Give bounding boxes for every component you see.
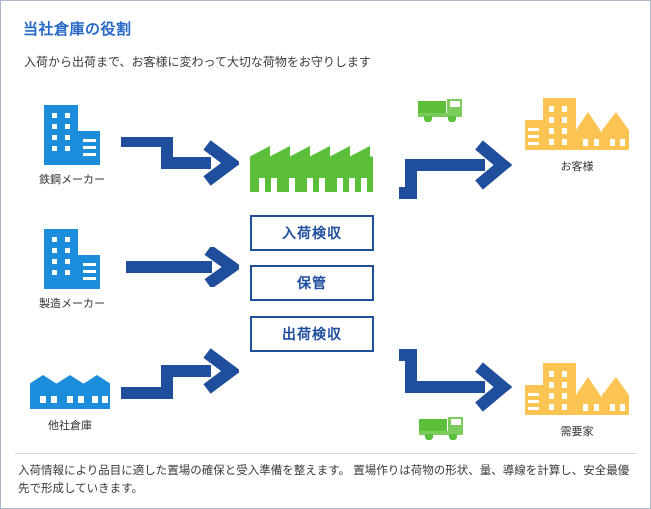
building-window	[65, 270, 70, 275]
building-bar	[83, 270, 96, 273]
building-window	[52, 259, 57, 264]
factory-window	[337, 178, 343, 192]
city-window	[562, 371, 567, 377]
city-bar	[528, 400, 539, 403]
factory-window	[259, 178, 265, 192]
cityscape-icon	[525, 98, 629, 150]
warehouse-window	[40, 396, 46, 403]
transport-node-bottom	[419, 417, 465, 441]
page-title: 当社倉庫の役割	[23, 18, 132, 39]
destination-label-bottom: 需要家	[497, 423, 651, 439]
city-window	[549, 106, 554, 112]
factory-window	[319, 178, 325, 192]
straight-arrow-right	[124, 247, 239, 287]
building-window	[52, 248, 57, 253]
process-box-shipping[interactable]: 出荷検収	[250, 316, 374, 352]
central-warehouse-node	[250, 144, 373, 192]
city-tower	[543, 98, 576, 150]
process-box-storage[interactable]: 保管	[250, 265, 374, 301]
city-window	[549, 371, 554, 377]
building-window	[52, 146, 57, 151]
building-tower	[44, 105, 78, 165]
factory-window	[307, 178, 313, 192]
city-house-window	[620, 404, 625, 411]
source-node-1: 鉄鋼メーカー	[44, 105, 100, 165]
building-bar	[83, 153, 96, 156]
city-house-window	[610, 139, 615, 146]
city-tower	[543, 363, 576, 415]
transport-node-top	[418, 99, 464, 123]
building-window	[65, 248, 70, 253]
city-window	[562, 117, 567, 123]
city-window	[549, 128, 554, 134]
factory-window	[271, 178, 277, 192]
city-window	[549, 382, 554, 388]
office-building-icon	[44, 229, 100, 289]
truck-cargo	[419, 419, 447, 431]
building-window	[52, 113, 57, 118]
city-window	[562, 404, 567, 410]
source-label-2: 製造メーカー	[0, 295, 152, 311]
truck-wheel	[449, 434, 457, 440]
building-tower	[44, 229, 78, 289]
city-bar	[528, 135, 539, 138]
city-house-window	[594, 139, 599, 146]
city-house-window	[620, 139, 625, 146]
destination-node-bottom: 需要家	[525, 363, 629, 415]
warehouse-window	[51, 396, 57, 403]
building-bar	[83, 146, 96, 149]
city-house-window	[594, 404, 599, 411]
city-bar	[528, 393, 539, 396]
building-window	[65, 259, 70, 264]
truck-wheel	[424, 116, 432, 122]
building-window	[65, 113, 70, 118]
city-window	[549, 117, 554, 123]
warehouse-window	[67, 396, 73, 403]
building-window	[65, 146, 70, 151]
destination-node-top: お客様	[525, 98, 629, 150]
city-window	[549, 139, 554, 145]
truck-cargo	[418, 101, 446, 113]
factory-icon	[250, 144, 373, 192]
step-down-arrow-right	[119, 137, 239, 189]
building-bar	[83, 263, 96, 266]
building-window	[52, 237, 57, 242]
footer-text: 入荷情報により品目に適した置場の確保と受入準備を整えます。 置場作りは荷物の形状…	[18, 462, 633, 498]
truck-window	[451, 419, 461, 425]
city-house-window	[583, 139, 588, 146]
source-label-3: 他社倉庫	[0, 417, 150, 433]
step-up-arrow-right	[393, 133, 513, 199]
source-node-2: 製造メーカー	[44, 229, 100, 289]
city-window	[562, 393, 567, 399]
city-house-window	[583, 404, 588, 411]
city-bar	[528, 142, 539, 145]
factory-window	[361, 178, 367, 192]
city-house-window	[610, 404, 615, 411]
step-up-arrow-right	[119, 347, 239, 399]
city-window	[549, 393, 554, 399]
truck-window	[450, 101, 460, 107]
building-bar	[83, 139, 96, 142]
cityscape-icon	[525, 363, 629, 415]
city-window	[562, 139, 567, 145]
city-window	[562, 106, 567, 112]
factory-window	[289, 178, 295, 192]
warehouse-window	[92, 396, 98, 403]
page-subtitle: 入荷から出荷まで、お客様に変わって大切な荷物をお守りします	[24, 53, 371, 70]
city-bar	[528, 128, 539, 131]
building-window	[52, 270, 57, 275]
truck-wheel	[448, 116, 456, 122]
factory-window	[349, 178, 355, 192]
building-window	[52, 124, 57, 129]
building-window	[65, 135, 70, 140]
warehouse-window	[78, 396, 84, 403]
source-node-3: 他社倉庫	[30, 375, 110, 409]
truck-icon	[418, 99, 464, 123]
building-window	[65, 124, 70, 129]
building-bar	[83, 277, 96, 280]
city-window	[562, 128, 567, 134]
footer-divider	[15, 453, 637, 454]
building-window	[52, 135, 57, 140]
warehouse-icon	[30, 375, 110, 409]
building-window	[65, 237, 70, 242]
warehouse-roof	[30, 375, 110, 389]
city-bar	[528, 407, 539, 410]
truck-wheel	[425, 434, 433, 440]
process-box-receiving[interactable]: 入荷検収	[250, 215, 374, 251]
destination-label-top: お客様	[497, 158, 651, 174]
office-building-icon	[44, 105, 100, 165]
city-window	[562, 382, 567, 388]
city-window	[549, 404, 554, 410]
truck-icon	[419, 417, 465, 441]
diagram-page: 当社倉庫の役割 入荷から出荷まで、お客様に変わって大切な荷物をお守りします 鉄鋼…	[0, 0, 651, 509]
warehouse-window	[102, 396, 108, 403]
step-down-arrow-right	[393, 349, 513, 415]
